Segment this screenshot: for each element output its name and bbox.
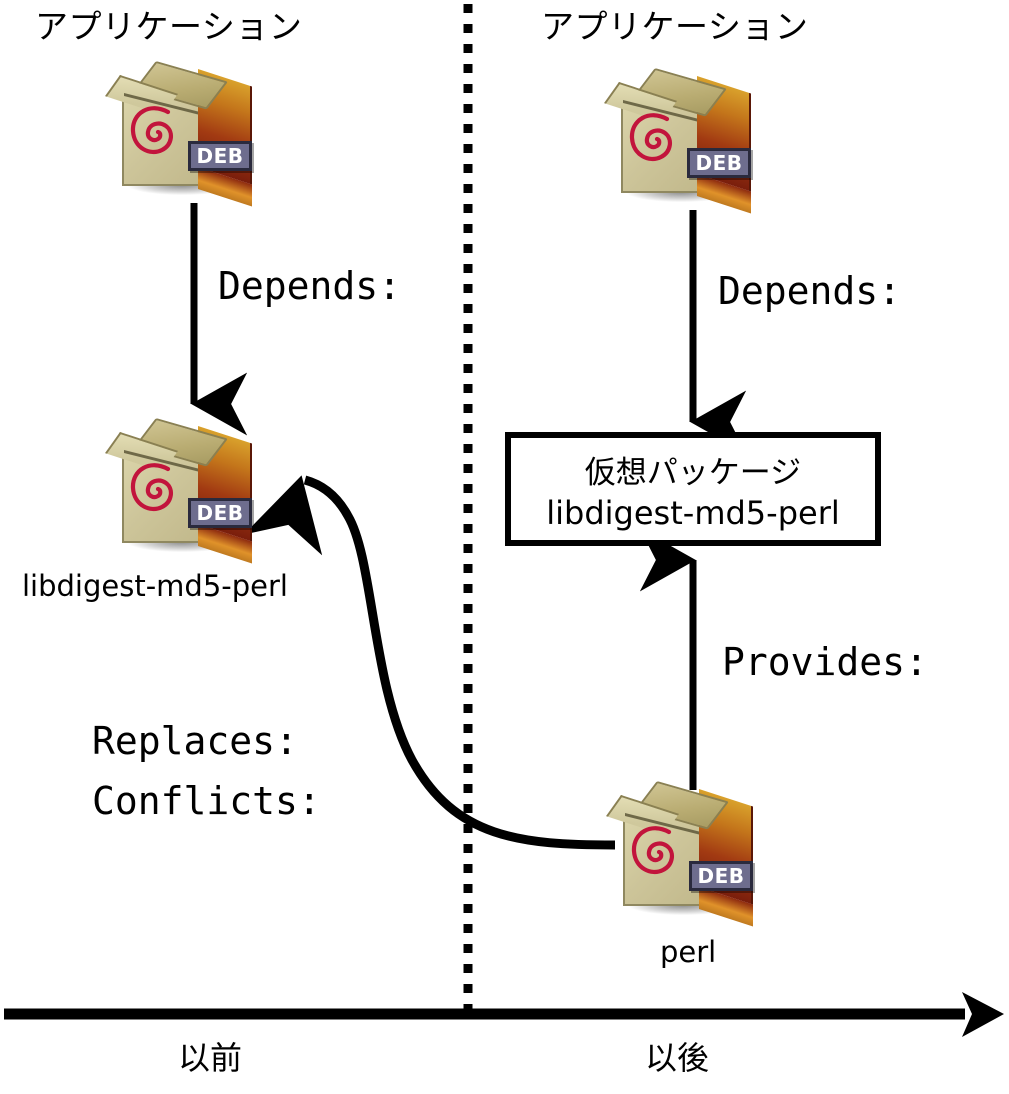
- debian-swirl-icon: [625, 819, 687, 893]
- package-label-libdigest-md5-perl: libdigest-md5-perl: [22, 572, 288, 601]
- relation-label-depends-left: Depends:: [218, 267, 401, 305]
- package-icon-perl[interactable]: DEB: [613, 775, 765, 927]
- deb-badge-label: DEB: [695, 153, 742, 173]
- virtual-package-name: libdigest-md5-perl: [546, 494, 840, 532]
- package-icon-app-before[interactable]: DEB: [112, 55, 264, 207]
- package-icon-libdigest-md5-perl[interactable]: DEB: [112, 412, 264, 564]
- virtual-package-title: 仮想パッケージ: [585, 447, 801, 492]
- package-label-perl: perl: [660, 938, 716, 967]
- timeline-arrowhead: [962, 992, 1004, 1037]
- deb-badge: DEB: [188, 498, 252, 528]
- package-icon-app-after[interactable]: DEB: [611, 62, 763, 214]
- debian-swirl-icon: [623, 106, 685, 180]
- relation-label-conflicts: Conflicts:: [92, 782, 321, 820]
- deb-badge: DEB: [188, 141, 252, 171]
- deb-badge: DEB: [689, 861, 753, 891]
- relation-label-replaces: Replaces:: [92, 722, 298, 760]
- deb-badge: DEB: [687, 148, 751, 178]
- debian-swirl-icon: [124, 99, 186, 173]
- relation-label-provides: Provides:: [722, 643, 928, 681]
- timeline-label-before: 以前: [178, 1042, 242, 1074]
- deb-badge-label: DEB: [697, 866, 744, 886]
- relation-label-depends-right: Depends:: [718, 272, 901, 310]
- column-heading-after: アプリケーション: [541, 10, 808, 43]
- virtual-package-box[interactable]: 仮想パッケージ libdigest-md5-perl: [505, 432, 881, 546]
- diagram-canvas: アプリケーション アプリケーション DEB DEB: [0, 0, 1009, 1094]
- deb-badge-label: DEB: [196, 146, 243, 166]
- column-heading-before: アプリケーション: [35, 10, 302, 43]
- debian-swirl-icon: [124, 456, 186, 530]
- timeline-label-after: 以後: [645, 1042, 709, 1074]
- deb-badge-label: DEB: [196, 503, 243, 523]
